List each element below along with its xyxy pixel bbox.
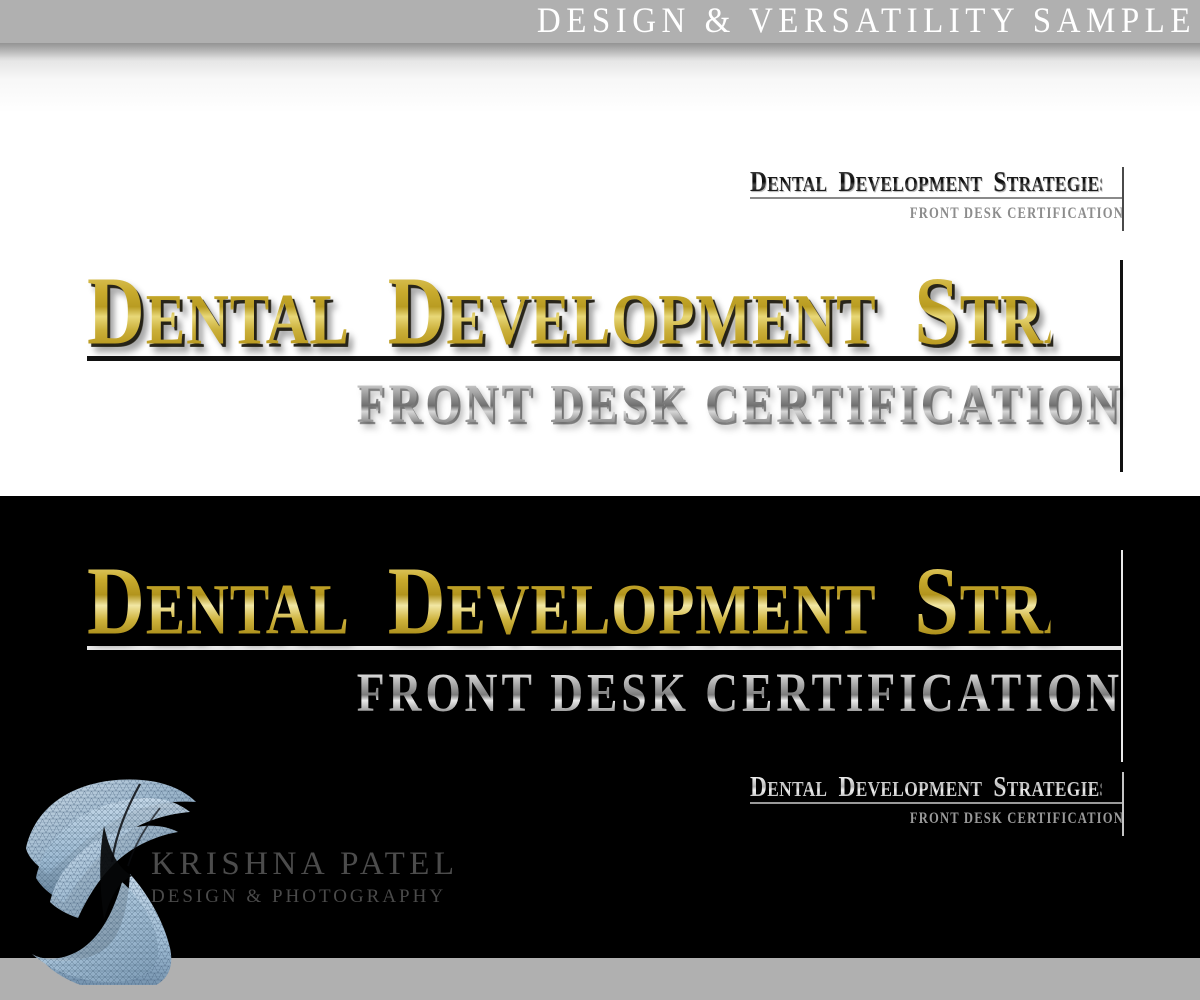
credit-name: KRISHNA PATEL (151, 848, 441, 881)
logo-large-dark: DENTAL DEVELOPMENT STRATEGIES FRONT DESK… (87, 552, 1123, 713)
logo-small-light-wordmark: DENTAL DEVELOPMENT STRATEGIES (750, 168, 1102, 197)
design-sample-sheet: DESIGN & VERSATILITY SAMPLE DENTAL DEVEL… (0, 0, 1200, 1000)
logo-small-light-rule (750, 197, 1124, 199)
credit-text-block: KRISHNA PATEL DESIGN & PHOTOGRAPHY (151, 848, 441, 906)
top-banner: DESIGN & VERSATILITY SAMPLE (0, 0, 1200, 43)
logo-large-dark-edge-bar (1121, 550, 1123, 762)
logo-small-light-tagline: FRONT DESK CERTIFICATION (761, 205, 1124, 221)
logo-large-light-edge-bar (1120, 260, 1123, 472)
logo-small-dark-tagline: FRONT DESK CERTIFICATION (761, 810, 1124, 826)
logo-large-light: DENTAL DEVELOPMENT STRATEGIES FRONT DESK… (87, 262, 1123, 424)
logo-small-dark-rule (750, 802, 1124, 804)
logo-large-dark-tagline: FRONT DESK CERTIFICATION (118, 666, 1123, 721)
credit-discipline: DESIGN & PHOTOGRAPHY (151, 887, 441, 906)
photographer-credit: KRISHNA PATEL DESIGN & PHOTOGRAPHY (18, 770, 438, 985)
logo-small-light: DENTAL DEVELOPMENT STRATEGIES FRONT DESK… (750, 168, 1124, 218)
logo-large-dark-wordmark: DENTAL DEVELOPMENT STRATEGIES (87, 552, 1050, 649)
logo-small-light-edge-bar (1122, 167, 1124, 231)
logo-large-light-tagline: FRONT DESK CERTIFICATION (118, 377, 1123, 432)
logo-small-dark-wordmark: DENTAL DEVELOPMENT STRATEGIES (750, 773, 1102, 802)
logo-small-dark-edge-bar (1122, 772, 1124, 836)
banner-title: DESIGN & VERSATILITY SAMPLE (537, 4, 1196, 40)
logo-small-dark: DENTAL DEVELOPMENT STRATEGIES FRONT DESK… (750, 773, 1124, 823)
logo-large-light-wordmark: DENTAL DEVELOPMENT STRATEGIES (87, 262, 1050, 359)
